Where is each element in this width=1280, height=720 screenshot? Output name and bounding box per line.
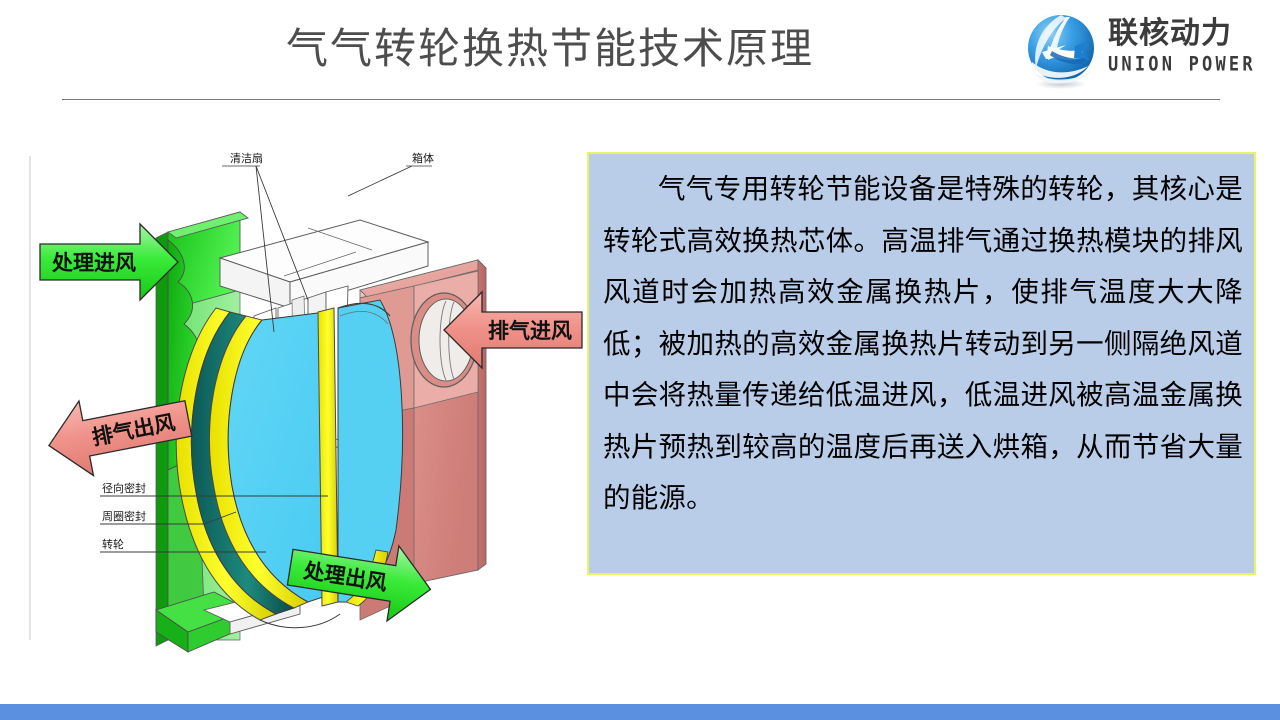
rotary-heat-exchanger-cutaway-diagram: 清洁扇 箱体 径向密封 周圈密封 转轮 bbox=[8, 140, 588, 660]
logo-wordmark: 联核动力 UNION POWER bbox=[1108, 16, 1270, 74]
description-text-card: 气气专用转轮节能设备是特殊的转轮，其核心是转轮式高效换热芯体。高温排气通过换热模… bbox=[587, 152, 1256, 575]
header-divider bbox=[62, 99, 1220, 100]
logo-company-name-en: UNION POWER bbox=[1108, 52, 1270, 77]
callout-label-rotor: 转轮 bbox=[102, 537, 124, 551]
callout-label-cabinet: 箱体 bbox=[412, 151, 434, 165]
page-title: 气气转轮换热节能技术原理 bbox=[150, 18, 950, 80]
callout-label-circumferential-seal: 周圈密封 bbox=[102, 509, 146, 523]
slide-root: 气气转轮换热节能技术原理 bbox=[0, 0, 1280, 720]
callout-label-clean-fan: 清洁扇 bbox=[230, 151, 263, 165]
callout-label-radial-seal: 径向密封 bbox=[102, 481, 146, 495]
union-power-globe-logo-icon bbox=[1022, 12, 1100, 90]
slide-header: 气气转轮换热节能技术原理 bbox=[0, 0, 1280, 104]
company-logo: 联核动力 UNION POWER bbox=[1022, 10, 1272, 94]
flow-arrow-label-process-air-in: 处理进风 bbox=[51, 251, 136, 275]
flow-arrow-label-exhaust-air-in: 排气进风 bbox=[488, 319, 572, 343]
description-paragraph: 气气专用转轮节能设备是特殊的转轮，其核心是转轮式高效换热芯体。高温排气通过换热模… bbox=[603, 164, 1243, 525]
logo-company-name-cn: 联核动力 bbox=[1108, 16, 1270, 52]
footer-accent-bar bbox=[0, 704, 1280, 720]
